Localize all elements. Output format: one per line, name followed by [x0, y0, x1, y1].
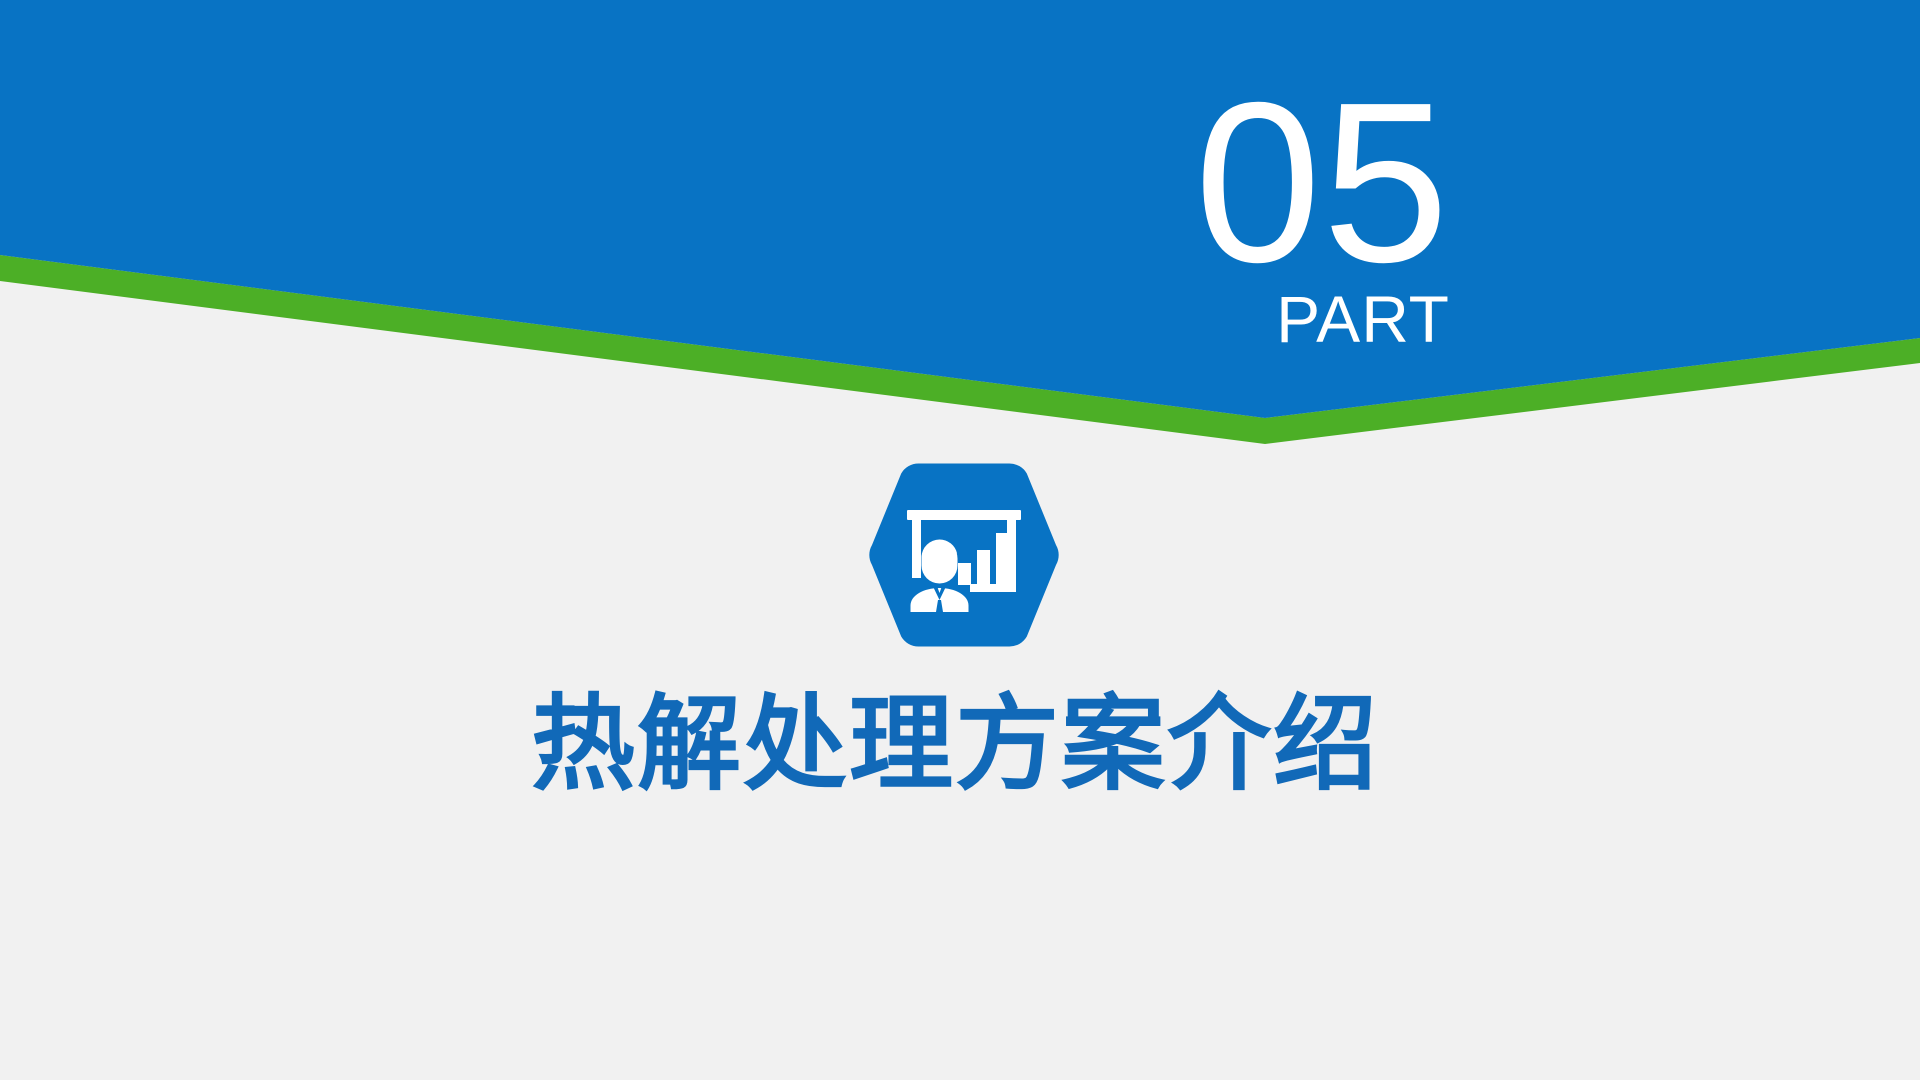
- part-number: 05: [1100, 75, 1450, 292]
- slide-canvas: 05 PART: [0, 0, 1920, 1080]
- blue-chevron-band: [0, 0, 1920, 418]
- presentation-chart-hexagon-icon: [866, 460, 1062, 650]
- chevron-banner: [0, 0, 1920, 460]
- part-number-block: 05 PART: [1100, 75, 1520, 352]
- hexagon-shape: [869, 464, 1058, 647]
- section-title: 热解处理方案介绍: [0, 686, 1920, 802]
